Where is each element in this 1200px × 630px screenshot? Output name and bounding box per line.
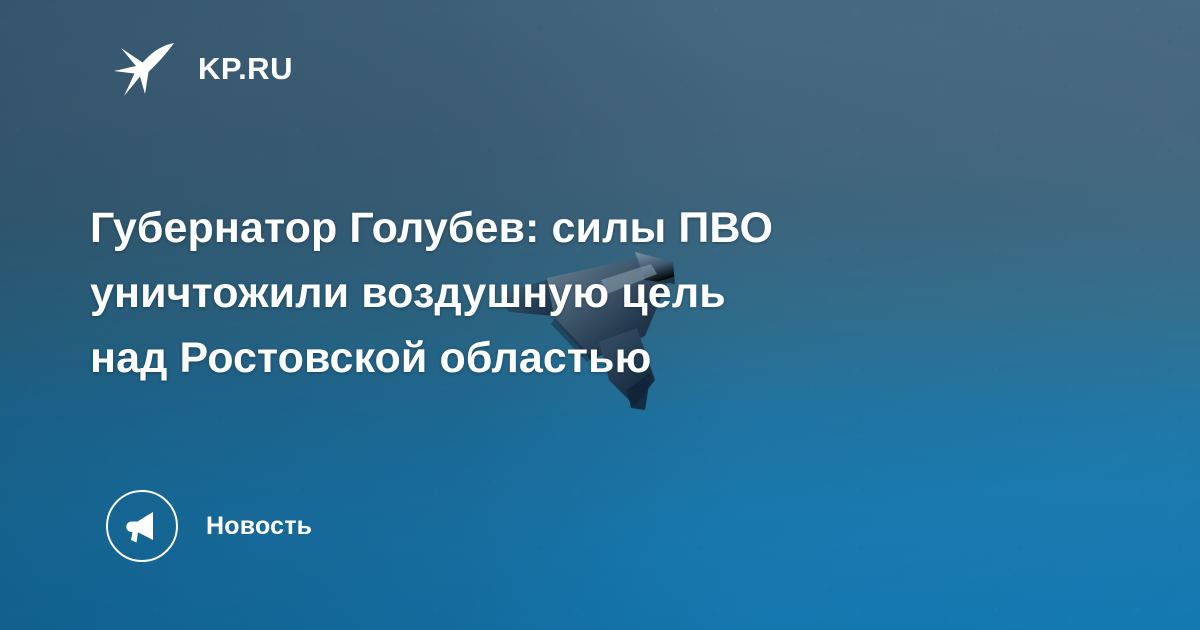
swallow-bird-icon	[112, 36, 176, 100]
headline-line-1: Губернатор Голубев: силы ПВО	[90, 196, 1090, 261]
headline-line-2: уничтожили воздушную цель	[90, 261, 1090, 326]
brand-logo[interactable]: KP.RU	[112, 36, 293, 100]
status-badge[interactable]: Новость	[106, 490, 312, 562]
megaphone-icon	[106, 490, 178, 562]
status-badge-label: Новость	[206, 514, 312, 539]
brand-wordmark: KP.RU	[198, 53, 293, 84]
social-share-card: KP.RU Губернатор Голубев: силы ПВО уничт…	[0, 0, 1200, 630]
headline-line-3: над Ростовской областью	[90, 326, 1090, 391]
page-title: Губернатор Голубев: силы ПВО уничтожили …	[90, 196, 1090, 391]
